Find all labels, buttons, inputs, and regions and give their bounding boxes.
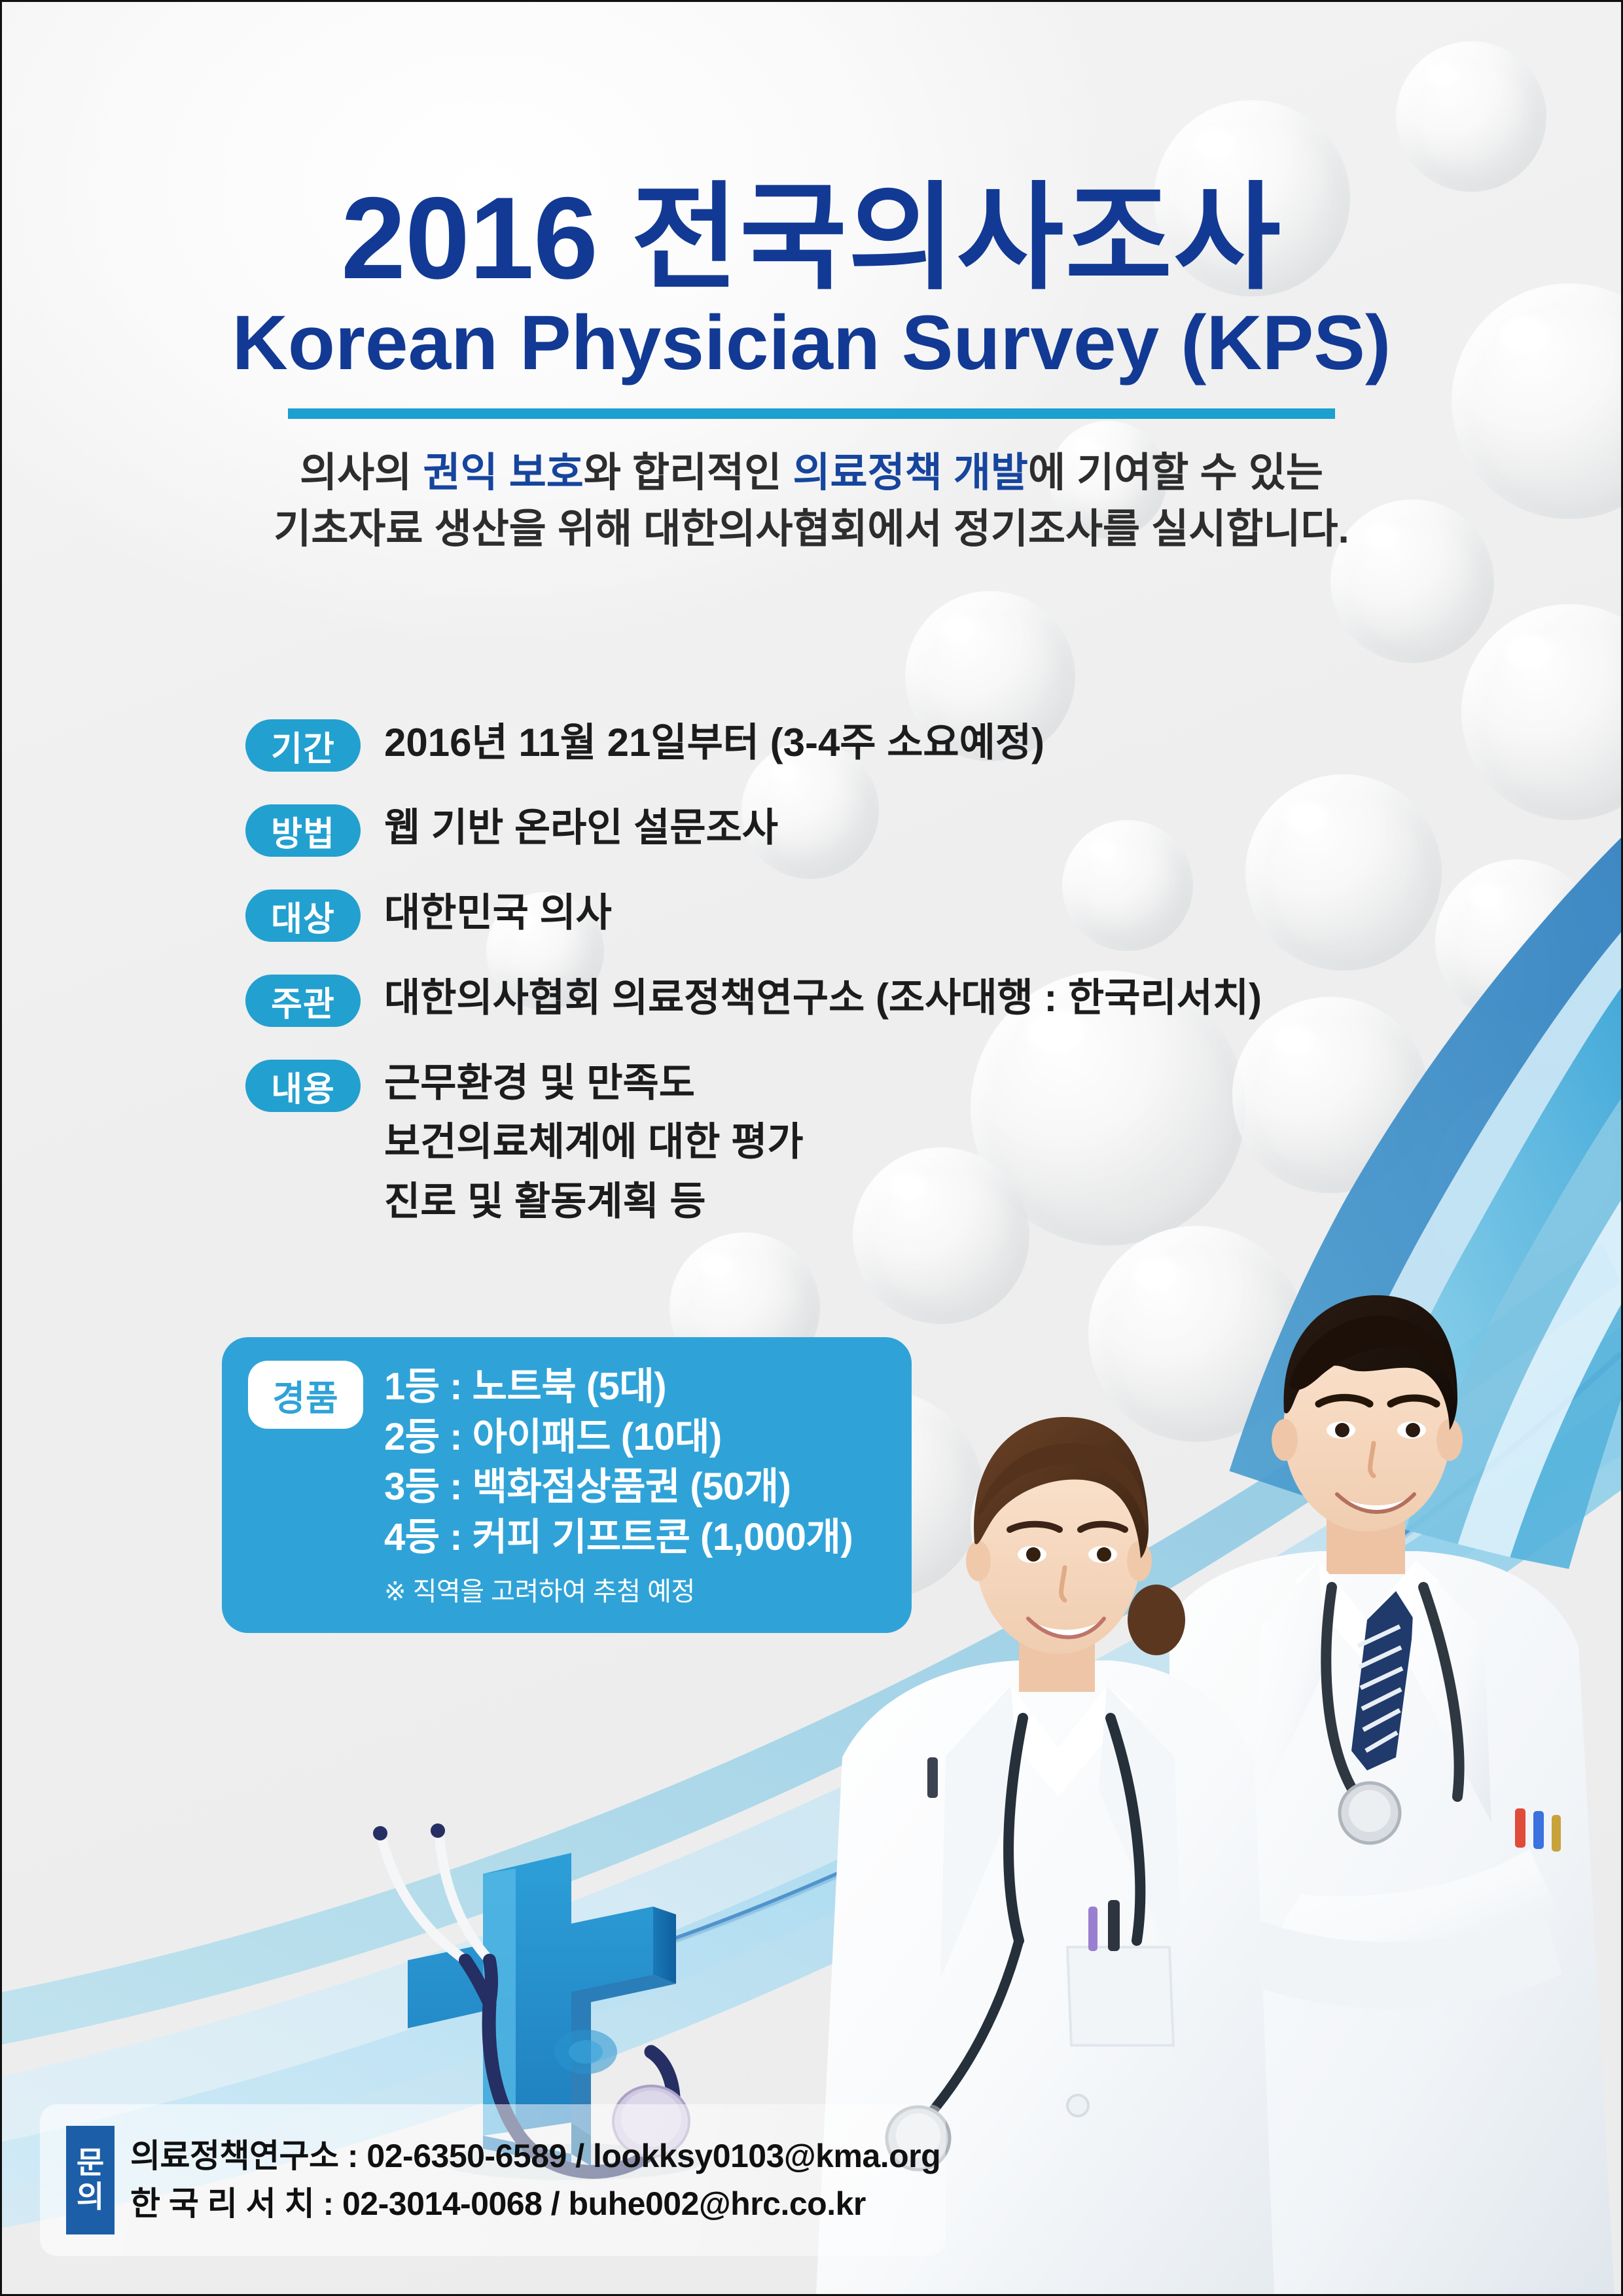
inquiry-char-2: 의 <box>77 2180 104 2214</box>
info-line: 보건의료체계에 대한 평가 <box>384 1120 804 1164</box>
badge-method: 방법 <box>245 804 361 857</box>
info-value-method: 웹 기반 온라인 설문조사 <box>384 802 778 850</box>
info-line: 대한민국 의사 <box>384 891 612 935</box>
lead-highlight-2: 의료정책 개발 <box>793 450 1027 495</box>
lead-highlight-1: 권익 보호 <box>423 450 583 495</box>
badge-period: 기간 <box>245 719 361 772</box>
badge-inquiry: 문 의 <box>66 2126 115 2234</box>
prize-item: 2등 : 아이패드 (10대) <box>384 1412 853 1463</box>
footer-contact-panel: 문 의 의료정책연구소 : 02-6350-6589 / lookksy0103… <box>40 2104 946 2256</box>
prize-list: 1등 : 노트북 (5대) 2등 : 아이패드 (10대) 3등 : 백화점상품… <box>384 1361 853 1633</box>
badge-contents: 내용 <box>245 1060 361 1112</box>
info-row-method: 방법 웹 기반 온라인 설문조사 <box>245 802 1489 857</box>
contact-line-kma: 의료정책연구소 : 02-6350-6589 / lookksy0103@kma… <box>130 2132 940 2180</box>
info-row-period: 기간 2016년 11월 21일부터 (3-4주 소요예정) <box>245 717 1489 772</box>
lead-text-c: 와 합리적인 <box>584 450 793 495</box>
poster-canvas: 2016 전국의사조사 Korean Physician Survey (KPS… <box>0 0 1623 2296</box>
prize-item: 1등 : 노트북 (5대) <box>384 1362 853 1412</box>
info-line: 웹 기반 온라인 설문조사 <box>384 806 778 850</box>
title-korean: 전국의사조사 <box>631 173 1282 303</box>
poster-header: 2016 전국의사조사 Korean Physician Survey (KPS… <box>2 179 1621 558</box>
title-year: 2016 <box>341 173 597 303</box>
page-title: 2016 전국의사조사 <box>2 179 1621 298</box>
info-value-period: 2016년 11월 21일부터 (3-4주 소요예정) <box>384 717 1044 765</box>
lead-text-a: 의사의 <box>300 450 423 495</box>
header-divider <box>288 408 1335 419</box>
info-line: 대한의사협회 의료정책연구소 (조사대행 : 한국리서치) <box>384 976 1262 1020</box>
badge-organizer: 주관 <box>245 975 361 1027</box>
lead-paragraph: 의사의 권익 보호와 합리적인 의료정책 개발에 기여할 수 있는 기초자료 생… <box>2 445 1621 557</box>
prize-note: ※ 직역을 고려하여 추첨 예정 <box>384 1570 853 1608</box>
info-row-target: 대상 대한민국 의사 <box>245 887 1489 942</box>
badge-prize: 경품 <box>248 1361 363 1429</box>
contact-line-hrc: 한 국 리 서 치 : 02-3014-0068 / buhe002@hrc.c… <box>130 2180 940 2228</box>
info-value-organizer: 대한의사협회 의료정책연구소 (조사대행 : 한국리서치) <box>384 972 1262 1020</box>
prize-item: 4등 : 커피 기프트콘 (1,000개) <box>384 1513 853 1563</box>
lead-text-e: 에 기여할 수 있는 <box>1028 450 1323 495</box>
info-line: 2016년 11월 21일부터 (3-4주 소요예정) <box>384 721 1044 765</box>
badge-target: 대상 <box>245 889 361 942</box>
contact-lines: 의료정책연구소 : 02-6350-6589 / lookksy0103@kma… <box>130 2132 940 2228</box>
info-line: 근무환경 및 만족도 <box>384 1061 804 1105</box>
info-value-contents: 근무환경 및 만족도 보건의료체계에 대한 평가 진로 및 활동계획 등 <box>384 1057 804 1238</box>
lead-line-2: 기초자료 생산을 위해 대한의사협회에서 정기조사를 실시합니다. <box>2 501 1621 558</box>
info-row-organizer: 주관 대한의사협회 의료정책연구소 (조사대행 : 한국리서치) <box>245 972 1489 1027</box>
title-english: Korean Physician Survey (KPS) <box>2 303 1621 384</box>
prize-item: 3등 : 백화점상품권 (50개) <box>384 1462 853 1513</box>
inquiry-char-1: 문 <box>77 2146 104 2180</box>
info-line: 진로 및 활동계획 등 <box>384 1179 804 1224</box>
info-value-target: 대한민국 의사 <box>384 887 612 935</box>
